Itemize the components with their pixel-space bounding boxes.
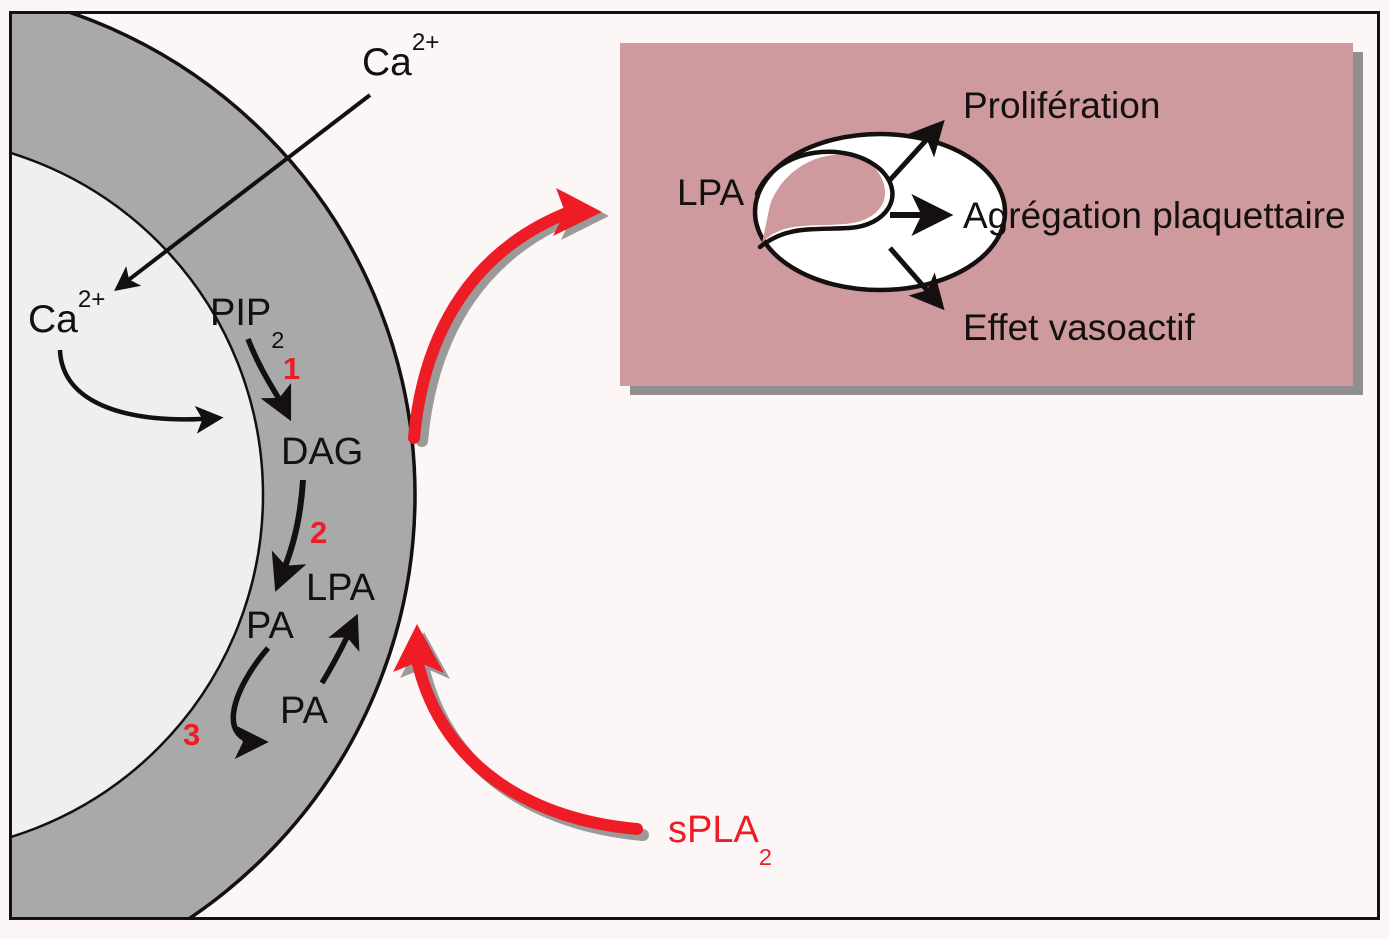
figure-root: Ca2+ Ca2+ PIP2 1 DAG 2 PA LPA 3 PA <box>0 0 1390 939</box>
label-lpa-receptor: LPA <box>677 172 745 213</box>
outcomes-panel: LPA Prolifération Agrégation plaquettair… <box>620 43 1363 395</box>
label-dag: DAG <box>281 431 363 473</box>
outcome-label-vasoactive: Effet vasoactif <box>963 307 1195 348</box>
outcome-label-aggregation: Agrégation plaquettaire <box>963 195 1346 236</box>
label-pa-lower: PA <box>280 690 329 732</box>
step-number-1: 1 <box>283 351 300 386</box>
step-number-3: 3 <box>183 717 200 752</box>
outcome-label-proliferation: Prolifération <box>963 85 1160 126</box>
label-pa-upper: PA <box>246 605 295 647</box>
step-number-2: 2 <box>310 515 327 550</box>
label-lpa-membrane: LPA <box>306 567 376 609</box>
diagram-canvas: Ca2+ Ca2+ PIP2 1 DAG 2 PA LPA 3 PA <box>0 0 1390 939</box>
